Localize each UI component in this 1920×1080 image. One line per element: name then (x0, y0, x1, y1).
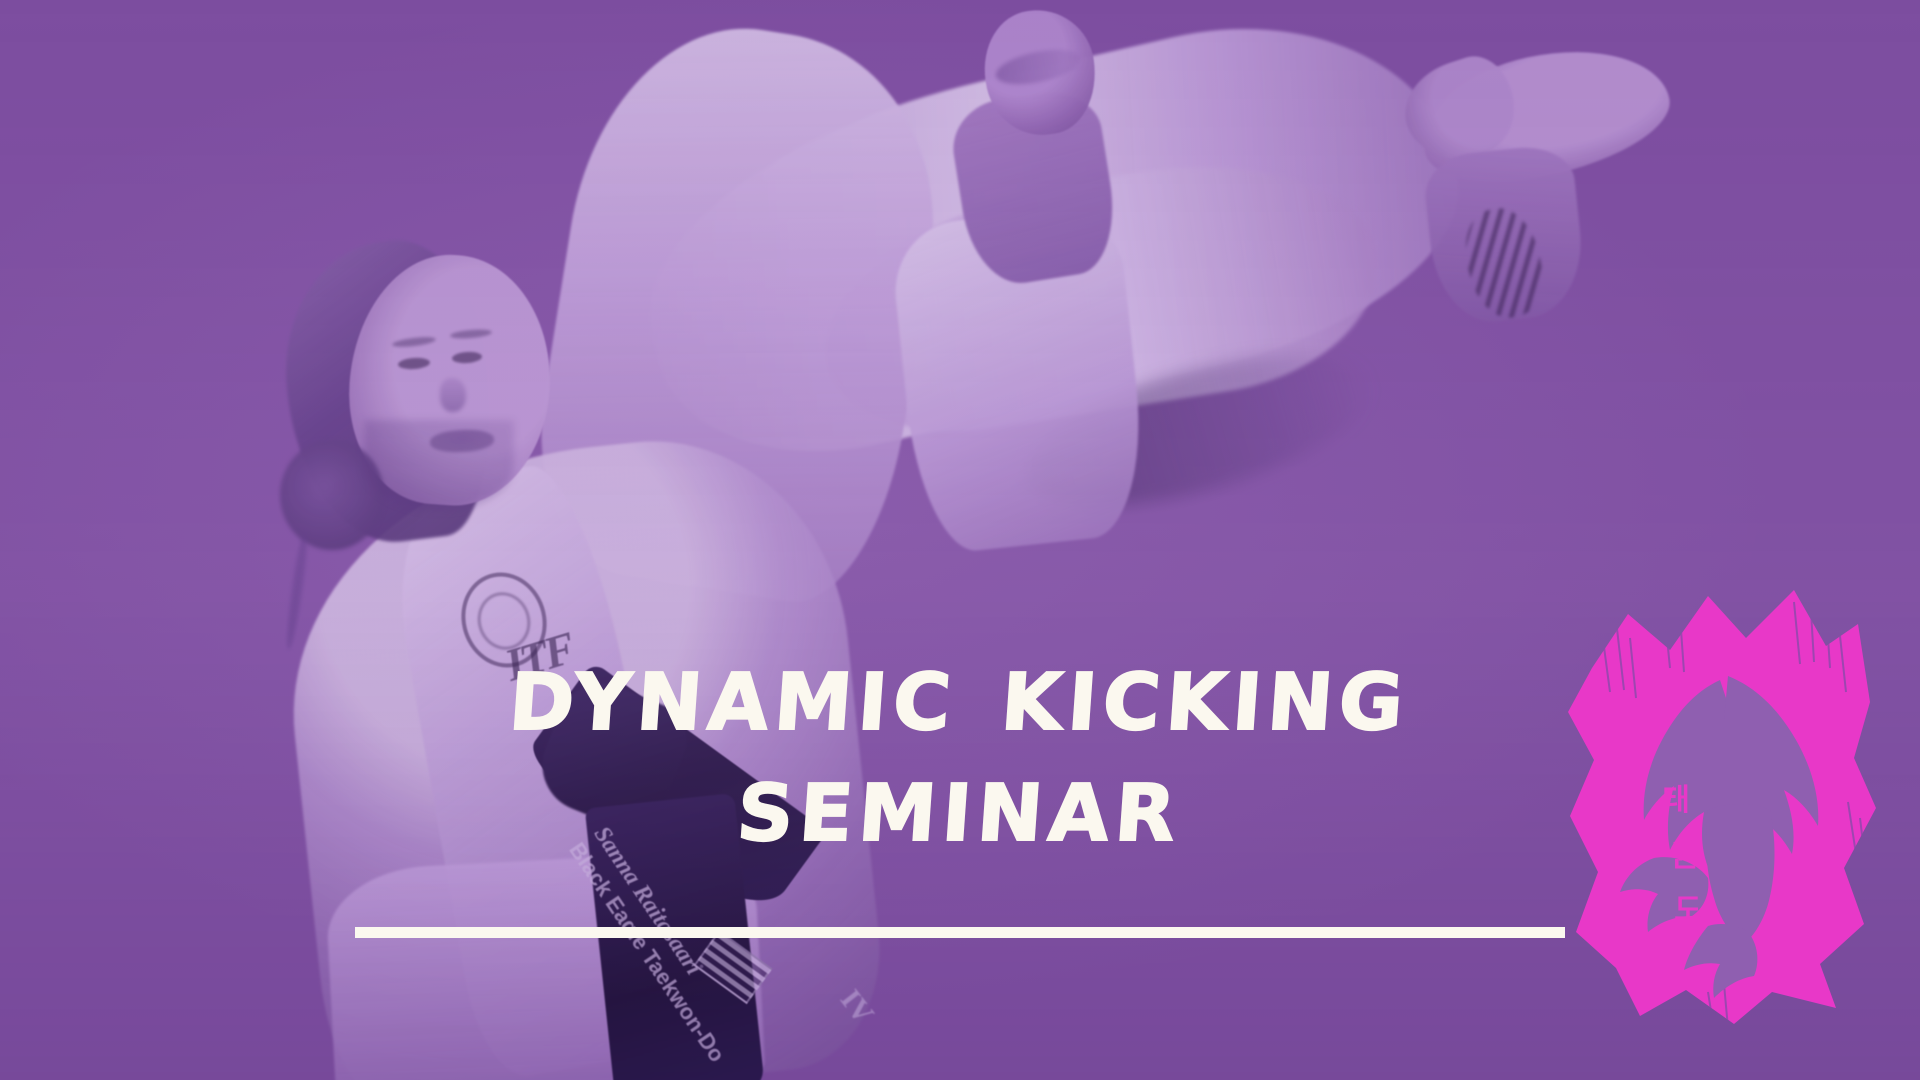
jaw-shadow (364, 420, 514, 510)
nose (440, 378, 466, 412)
poster-canvas: ITF Sanna Raitasaari Black Eagle Taekwon… (0, 0, 1920, 1080)
hair-wisp (284, 530, 311, 650)
taekwondo-side-kick-photo: ITF Sanna Raitasaari Black Eagle Taekwon… (0, 0, 1920, 1080)
title-underline-rule (355, 927, 1565, 938)
title-line-primary: Dynamic Kicking (0, 640, 1920, 743)
title-line-secondary: Seminar (0, 751, 1920, 854)
poster-title-block: Dynamic Kicking Seminar (0, 640, 1920, 854)
